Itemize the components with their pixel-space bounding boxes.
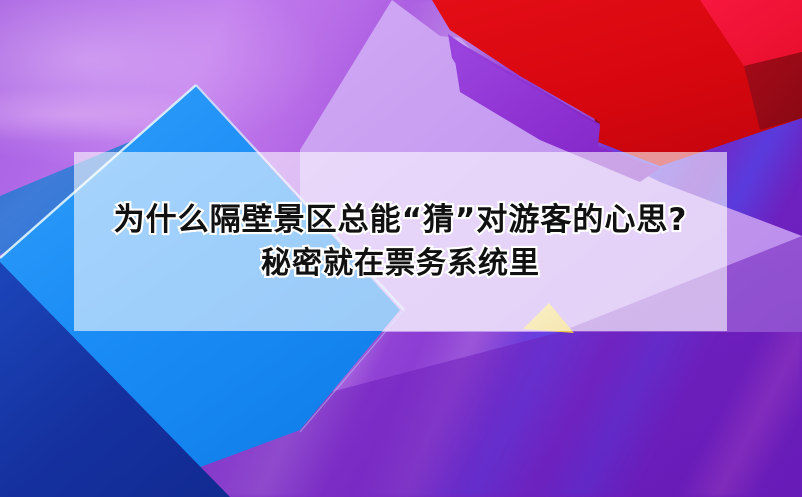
caption-line-2: 秘密就在票务系统里 [261,245,540,282]
poster-canvas: 为什么隔壁景区总能“猜”对游客的心思? 秘密就在票务系统里 [0,0,802,497]
caption-line-1: 为什么隔壁景区总能“猜”对游客的心思? [114,201,688,239]
caption-band: 为什么隔壁景区总能“猜”对游客的心思? 秘密就在票务系统里 [74,152,727,331]
